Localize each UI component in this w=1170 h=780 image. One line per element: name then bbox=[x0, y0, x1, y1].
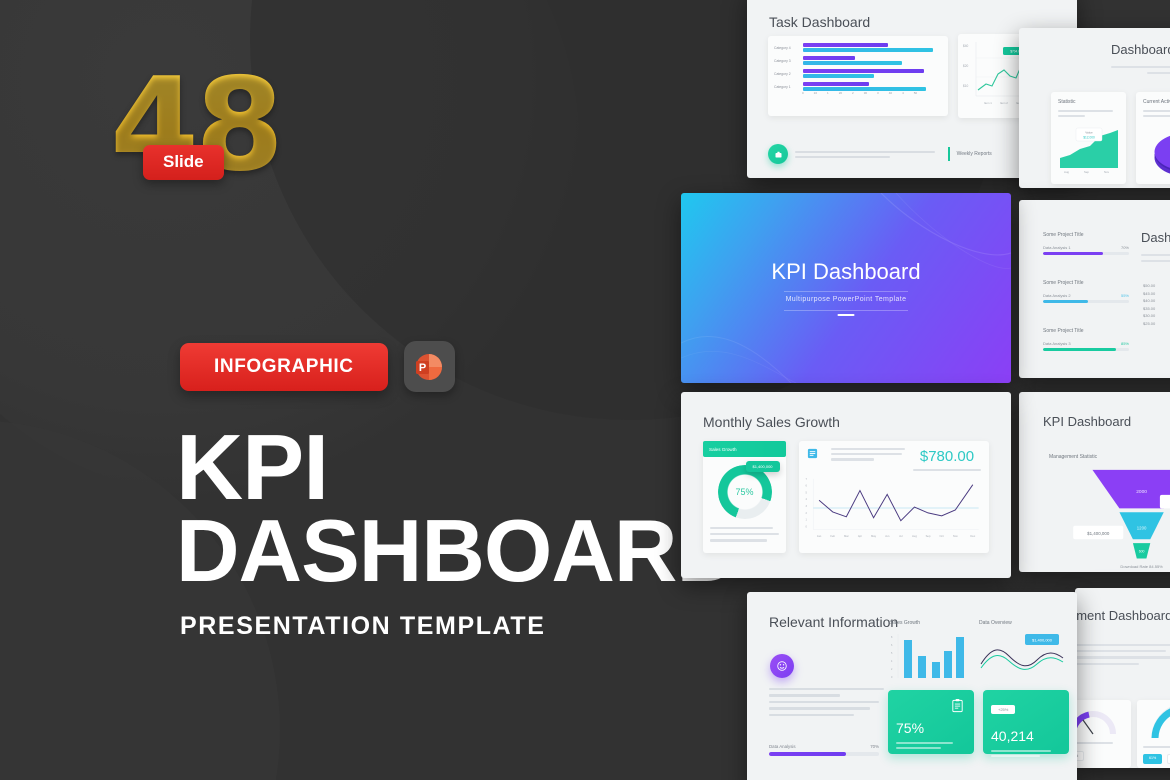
cover-divider-bottom bbox=[784, 310, 908, 311]
task-category-label: Category 4 bbox=[774, 46, 800, 50]
axis-tick: 2 bbox=[852, 91, 854, 95]
briefcase-icon bbox=[768, 144, 788, 164]
sales-growth-panel: Sales Growth 75% $1,400,000 bbox=[703, 441, 786, 553]
format-badge-row: INFOGRAPHIC P bbox=[180, 341, 455, 392]
svg-text:1200: 1200 bbox=[1137, 526, 1147, 531]
svg-text:5: 5 bbox=[891, 652, 893, 655]
cover-divider-top bbox=[784, 291, 908, 292]
svg-text:P: P bbox=[419, 362, 426, 374]
axis-tick: 1 bbox=[827, 91, 829, 95]
project-metric-label: Data Analysis 1 bbox=[1043, 245, 1071, 250]
price-tick: $35.00 bbox=[1143, 305, 1155, 313]
svg-text:Item 2: Item 2 bbox=[1000, 101, 1008, 105]
slide-thumbnail-relevant-information[interactable]: Relevant Information Data Analysis 70% bbox=[747, 592, 1077, 780]
metric-card-count: +25% 40,214 bbox=[983, 690, 1069, 754]
document-icon bbox=[807, 448, 818, 459]
svg-text:4: 4 bbox=[805, 498, 807, 501]
metric-value: 75% bbox=[896, 720, 966, 736]
cover-decoration bbox=[681, 193, 1011, 383]
svg-text:Sep: Sep bbox=[1084, 170, 1089, 174]
smiley-icon bbox=[770, 654, 794, 678]
svg-text:Jul: Jul bbox=[899, 534, 903, 538]
svg-text:Sep: Sep bbox=[926, 534, 931, 538]
price-tick: $25.00 bbox=[1143, 320, 1155, 328]
slide-thumbnail-dashboard-statistic[interactable]: Dashboard Statistic Value $12,000 AugSep… bbox=[1019, 28, 1170, 188]
data-analysis-progress: Data Analysis 70% bbox=[769, 744, 879, 756]
svg-text:8: 8 bbox=[891, 636, 893, 639]
svg-text:Nov: Nov bbox=[953, 534, 958, 538]
project-title: Some Project Title bbox=[1043, 280, 1129, 286]
slide-thumbnail-cover[interactable]: KPI Dashboard Multipurpose PowerPoint Te… bbox=[681, 193, 1011, 383]
data-overview-block: Data Overview $1,400,000 bbox=[979, 620, 1063, 682]
donut-tooltip: $1,400,000 bbox=[746, 461, 780, 472]
gauge-badge: 61% bbox=[1143, 754, 1162, 764]
svg-text:May: May bbox=[871, 534, 877, 538]
axis-tick: 10 bbox=[814, 91, 817, 95]
promo-banner: 48 Slide INFOGRAPHIC P KPI DASHBOARD PRE… bbox=[0, 0, 1170, 780]
task-bar-chart: Category 4 Category 3 bbox=[768, 36, 948, 116]
data-analysis-label: Data Analysis bbox=[769, 744, 796, 749]
slide-thumbnail-kpi-funnel[interactable]: KPI Dashboard Management Statistic 2000 … bbox=[1019, 392, 1170, 572]
relevant-bar-chart: 865 420 bbox=[890, 630, 968, 682]
task-category-label: Category 2 bbox=[774, 72, 800, 76]
svg-text:$20: $20 bbox=[963, 64, 969, 68]
slide-title-sales: Monthly Sales Growth bbox=[703, 414, 840, 430]
svg-text:Feb: Feb bbox=[830, 534, 835, 538]
page-title: KPI DASHBOARD bbox=[176, 424, 739, 592]
statistic-tooltip-label: Value bbox=[1085, 131, 1093, 135]
svg-text:3: 3 bbox=[805, 505, 807, 508]
funnel-chart-title: Management Statistic bbox=[1049, 454, 1097, 460]
project-metric-label: Data Analysis 3 bbox=[1043, 341, 1071, 346]
slide-title-funnel: KPI Dashboard bbox=[1043, 414, 1131, 429]
svg-text:Oct: Oct bbox=[940, 534, 944, 538]
project-metric-percent: 55% bbox=[1121, 293, 1129, 298]
svg-text:2: 2 bbox=[805, 512, 807, 515]
svg-text:Dec: Dec bbox=[970, 534, 975, 538]
svg-text:Nov: Nov bbox=[1104, 170, 1110, 174]
project-title: Some Project Title bbox=[1043, 232, 1129, 238]
price-tick: $30.00 bbox=[1143, 312, 1155, 320]
relevant-body-text bbox=[769, 688, 884, 720]
sales-growth-chart-block: Sales Growth 865 420 bbox=[890, 620, 968, 682]
svg-text:600: 600 bbox=[1139, 550, 1145, 554]
clipboard-icon bbox=[950, 698, 965, 713]
svg-text:Jun: Jun bbox=[885, 534, 890, 538]
current-activity-title: Current Activity bbox=[1143, 99, 1170, 105]
metric-badge: +25% bbox=[991, 705, 1015, 714]
data-overview-tooltip: $1,400,000 bbox=[1032, 638, 1053, 643]
cover-title: KPI Dashboard bbox=[681, 259, 1011, 285]
svg-text:$40: $40 bbox=[963, 44, 969, 48]
page-title-line2: DASHBOARD bbox=[176, 510, 739, 592]
axis-tick: 20 bbox=[839, 91, 842, 95]
hero-panel: 48 Slide INFOGRAPHIC P KPI DASHBOARD PRE… bbox=[0, 0, 680, 780]
sales-line-chart: 7654 3210 JanFebMar AprMayJun JulAugSep … bbox=[803, 473, 985, 545]
slide-thumbnail-monthly-sales[interactable]: Monthly Sales Growth Sales Growth 75% $1… bbox=[681, 392, 1011, 578]
svg-text:2: 2 bbox=[891, 668, 893, 671]
price-tick: $50.00 bbox=[1143, 282, 1155, 290]
axis-tick: 0 bbox=[802, 91, 804, 95]
svg-text:4: 4 bbox=[891, 660, 893, 663]
project-metric-label: Data Analysis 2 bbox=[1043, 293, 1071, 298]
slide-title-management: ement Dashboard bbox=[1075, 608, 1170, 623]
svg-text:Jan: Jan bbox=[817, 534, 822, 538]
price-tick: $40.00 bbox=[1143, 297, 1155, 305]
slide-count-badge: Slide bbox=[143, 145, 224, 180]
slide-title-task: Task Dashboard bbox=[769, 14, 870, 30]
gauge-cyan-icon bbox=[1143, 706, 1170, 740]
project-metric-percent: 70% bbox=[1121, 245, 1129, 250]
gauge-purple-icon bbox=[1075, 706, 1121, 736]
metric-card-percent: 75% bbox=[888, 690, 974, 754]
svg-text:7: 7 bbox=[805, 478, 807, 481]
svg-text:Apr: Apr bbox=[858, 534, 862, 538]
task-category-label: Category 1 bbox=[774, 85, 800, 89]
svg-text:0: 0 bbox=[805, 526, 807, 529]
axis-tick: 30 bbox=[864, 91, 867, 95]
svg-text:$1,400,000: $1,400,000 bbox=[1087, 531, 1110, 536]
project-metric-percent: 85% bbox=[1121, 341, 1129, 346]
sales-growth-header: Sales Growth bbox=[703, 441, 786, 457]
statistic-title: Statistic bbox=[1058, 99, 1119, 105]
sales-trend-panel: $780.00 7654 3210 JanFebMar AprMa bbox=[799, 441, 989, 553]
data-overview-title: Data Overview bbox=[979, 620, 1063, 626]
svg-text:Item 1: Item 1 bbox=[984, 101, 992, 105]
cover-accent-dash bbox=[838, 314, 855, 316]
axis-tick: 3 bbox=[877, 91, 879, 95]
sales-growth-label: Sales Growth bbox=[709, 447, 737, 452]
slide-title-dashboard1: Dashboard bbox=[1111, 42, 1170, 57]
axis-tick: 50 bbox=[914, 91, 917, 95]
svg-text:0: 0 bbox=[891, 676, 893, 679]
weekly-reports-label: Weekly Reports bbox=[957, 151, 992, 157]
slide-title-dashboard2: Dashboard bbox=[1141, 230, 1170, 245]
task-category-label: Category 3 bbox=[774, 59, 800, 63]
donut-value: 75% bbox=[718, 465, 772, 519]
svg-text:1: 1 bbox=[805, 519, 807, 522]
slide-thumbnail-management-dashboard[interactable]: ement Dashboard 6420 bbox=[1075, 588, 1170, 768]
svg-text:2000: 2000 bbox=[1136, 489, 1147, 495]
slide-thumbnail-dashboard-projects[interactable]: Dashboard Some Project Title Data Analys… bbox=[1019, 200, 1170, 378]
sales-donut-chart: 75% $1,400,000 bbox=[718, 465, 772, 519]
funnel-chart: 2000 1200 600 $1,800,000 $1,400,000 Down… bbox=[1041, 466, 1170, 572]
axis-tick: 4 bbox=[902, 91, 904, 95]
task-chart-axis: 0 10 1 20 2 30 3 40 4 50 bbox=[802, 91, 940, 95]
task-footer: Weekly Reports bbox=[768, 144, 992, 164]
svg-text:6: 6 bbox=[805, 485, 807, 488]
infographic-badge: INFOGRAPHIC bbox=[180, 343, 388, 391]
data-analysis-percent: 70% bbox=[870, 744, 879, 749]
svg-text:Aug: Aug bbox=[1064, 170, 1069, 174]
project-title: Some Project Title bbox=[1043, 328, 1129, 334]
sales-amount: $780.00 bbox=[913, 448, 981, 465]
price-axis: $50.00 $45.00 $40.00 $35.00 $30.00 $25.0… bbox=[1143, 282, 1155, 328]
powerpoint-icon: P bbox=[404, 341, 455, 392]
axis-tick: 40 bbox=[889, 91, 892, 95]
cover-subtitle: Multipurpose PowerPoint Template bbox=[681, 296, 1011, 303]
data-overview-line-chart: $1,400,000 bbox=[979, 630, 1065, 682]
metric-value: 40,214 bbox=[991, 728, 1061, 744]
svg-text:6: 6 bbox=[891, 644, 893, 647]
svg-text:Download Rate 84.55%: Download Rate 84.55% bbox=[1120, 564, 1163, 569]
svg-text:5: 5 bbox=[805, 492, 807, 495]
svg-text:Aug: Aug bbox=[912, 534, 917, 538]
svg-text:$10: $10 bbox=[963, 84, 969, 88]
svg-text:$12,000: $12,000 bbox=[1083, 136, 1095, 140]
svg-text:Mar: Mar bbox=[844, 534, 849, 538]
current-activity-pie-chart bbox=[1143, 119, 1170, 181]
page-subtitle: PRESENTATION TEMPLATE bbox=[180, 612, 546, 641]
slide-title-relevant: Relevant Information bbox=[769, 614, 898, 630]
sales-growth-chart-title: Sales Growth bbox=[890, 620, 968, 626]
price-tick: $45.00 bbox=[1143, 290, 1155, 298]
